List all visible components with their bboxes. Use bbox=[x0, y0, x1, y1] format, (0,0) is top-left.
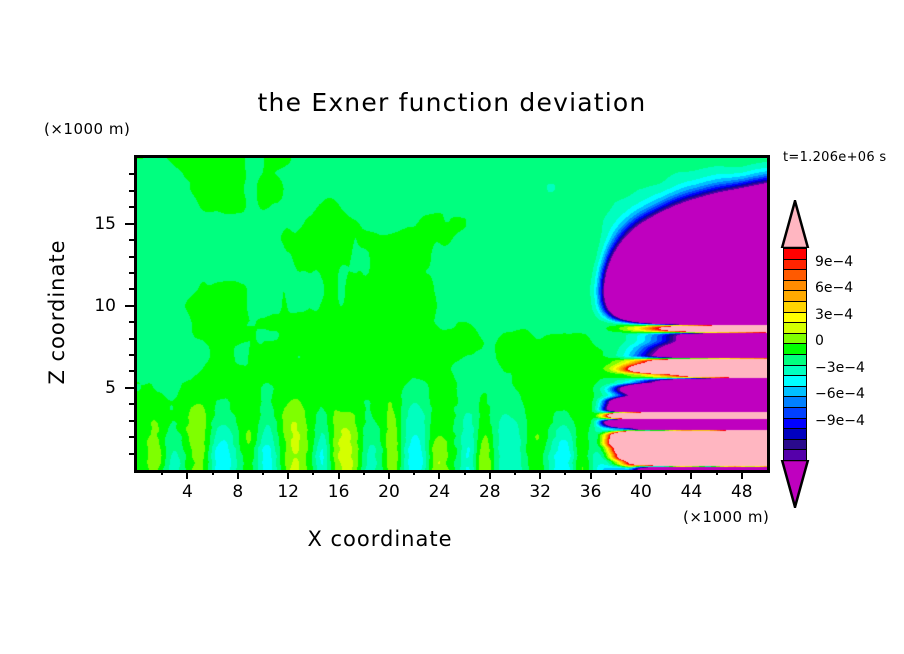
colorbar-label: −3e−4 bbox=[815, 360, 865, 376]
y-tick-minor bbox=[129, 403, 134, 405]
x-tick-label: 36 bbox=[571, 482, 611, 502]
x-tick-label: 12 bbox=[268, 482, 308, 502]
x-tick-label: 48 bbox=[722, 482, 762, 502]
y-tick-minor bbox=[129, 453, 134, 455]
x-tick-major bbox=[690, 470, 692, 479]
page-title: the Exner function deviation bbox=[0, 88, 904, 117]
contour-field bbox=[137, 158, 767, 470]
colorbar-label: −9e−4 bbox=[815, 413, 865, 429]
x-tick-major bbox=[741, 470, 743, 479]
y-tick-minor bbox=[129, 173, 134, 175]
x-tick-minor bbox=[262, 470, 264, 475]
colorbar: 9e−46e−43e−40−3e−4−6e−4−9e−4 bbox=[779, 200, 813, 520]
x-tick-minor bbox=[363, 470, 365, 475]
x-tick-major bbox=[539, 470, 541, 479]
x-tick-minor bbox=[312, 470, 314, 475]
x-tick-minor bbox=[514, 470, 516, 475]
x-tick-major bbox=[438, 470, 440, 479]
x-tick-major bbox=[237, 470, 239, 479]
x-tick-label: 28 bbox=[470, 482, 510, 502]
y-tick-major bbox=[125, 305, 134, 307]
x-tick-major bbox=[590, 470, 592, 479]
y-tick-major bbox=[125, 223, 134, 225]
y-tick-minor bbox=[129, 436, 134, 438]
colorbar-label: −6e−4 bbox=[815, 386, 865, 402]
x-tick-minor bbox=[564, 470, 566, 475]
x-tick-major bbox=[640, 470, 642, 479]
x-tick-minor bbox=[665, 470, 667, 475]
x-tick-label: 4 bbox=[167, 482, 207, 502]
colorbar-label: 9e−4 bbox=[815, 254, 853, 270]
x-tick-major bbox=[287, 470, 289, 479]
colorbar-label: 0 bbox=[815, 333, 824, 349]
x-tick-label: 24 bbox=[419, 482, 459, 502]
colorbar-label: 3e−4 bbox=[815, 307, 853, 323]
y-tick-label: 5 bbox=[76, 378, 116, 398]
x-tick-major bbox=[186, 470, 188, 479]
z-axis-title: Z coordinate bbox=[45, 222, 69, 402]
y-tick-minor bbox=[129, 321, 134, 323]
y-tick-label: 10 bbox=[76, 296, 116, 316]
y-tick-minor bbox=[129, 272, 134, 274]
colorbar-over-arrow bbox=[780, 200, 810, 248]
x-axis-unit-label: (×1000 m) bbox=[683, 508, 769, 526]
x-tick-major bbox=[489, 470, 491, 479]
x-tick-minor bbox=[413, 470, 415, 475]
figure-canvas: the Exner function deviation (×1000 m) (… bbox=[0, 0, 904, 654]
y-tick-minor bbox=[129, 354, 134, 356]
x-axis-title: X coordinate bbox=[0, 527, 760, 551]
y-tick-minor bbox=[129, 338, 134, 340]
x-tick-label: 44 bbox=[671, 482, 711, 502]
y-tick-minor bbox=[129, 420, 134, 422]
y-tick-minor bbox=[129, 288, 134, 290]
contour-plot-area bbox=[134, 155, 770, 473]
y-tick-minor bbox=[129, 190, 134, 192]
x-tick-minor bbox=[464, 470, 466, 475]
x-tick-major bbox=[338, 470, 340, 479]
x-tick-label: 16 bbox=[319, 482, 359, 502]
y-tick-label: 15 bbox=[76, 214, 116, 234]
y-tick-minor bbox=[129, 206, 134, 208]
y-tick-minor bbox=[129, 370, 134, 372]
x-tick-label: 20 bbox=[369, 482, 409, 502]
time-annotation: t=1.206e+06 s bbox=[783, 150, 886, 165]
x-tick-minor bbox=[615, 470, 617, 475]
x-tick-label: 32 bbox=[520, 482, 560, 502]
colorbar-label: 6e−4 bbox=[815, 280, 853, 296]
x-tick-label: 8 bbox=[218, 482, 258, 502]
y-tick-minor bbox=[129, 239, 134, 241]
colorbar-under-arrow bbox=[780, 460, 810, 508]
x-tick-minor bbox=[212, 470, 214, 475]
y-tick-minor bbox=[129, 256, 134, 258]
y-axis-unit-label: (×1000 m) bbox=[44, 120, 130, 138]
y-tick-major bbox=[125, 387, 134, 389]
x-tick-minor bbox=[716, 470, 718, 475]
x-tick-major bbox=[388, 470, 390, 479]
x-tick-minor bbox=[161, 470, 163, 475]
x-tick-label: 40 bbox=[621, 482, 661, 502]
